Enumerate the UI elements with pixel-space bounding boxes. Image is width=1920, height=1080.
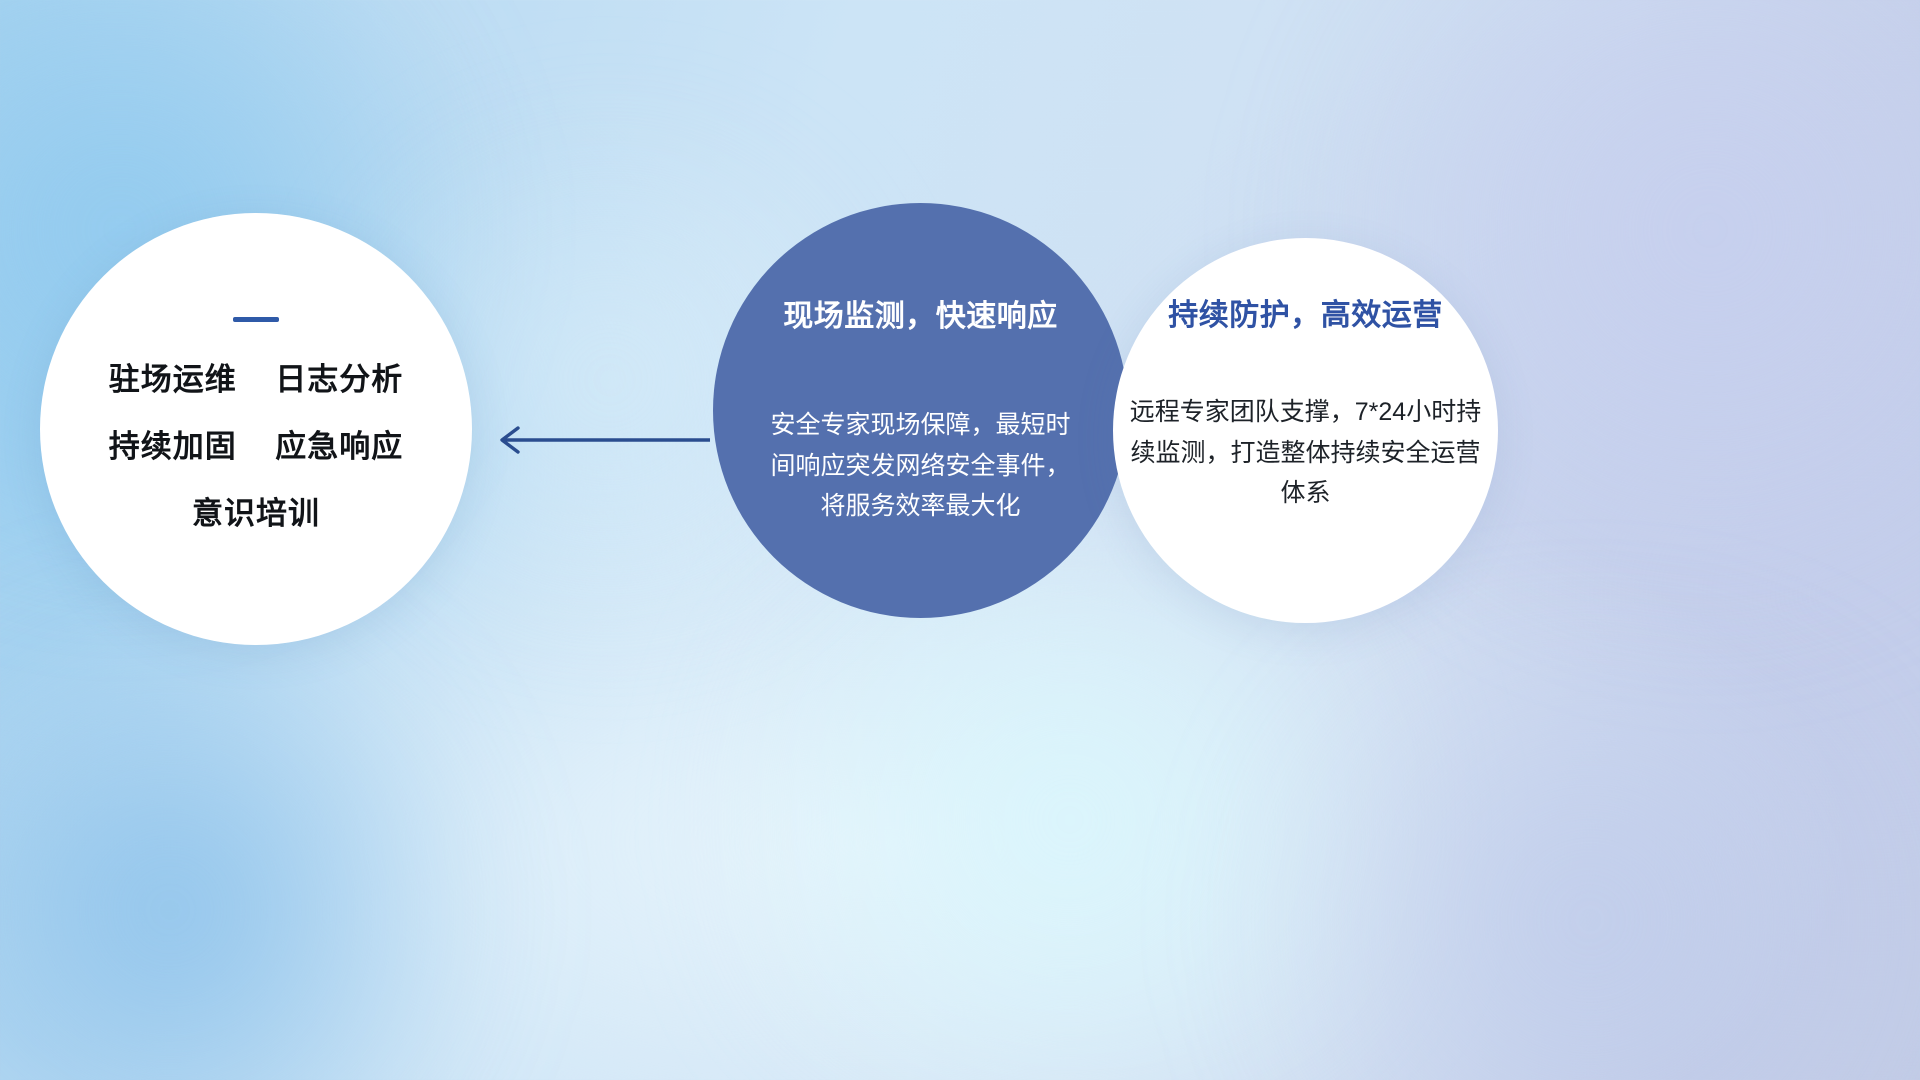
- service-circle-right-body: 远程专家团队支撑，7*24小时持续监测，打造整体持续安全运营体系: [1127, 392, 1485, 514]
- service-circle-right-title: 持续防护，高效运营: [1168, 290, 1443, 334]
- diagram-stage: 驻场运维 日志分析 持续加固 应急响应 意识培训 现场监测，快速响应 安全专家现…: [0, 0, 1920, 1080]
- capability-line-2: 持续加固 应急响应: [109, 431, 403, 462]
- service-circle-middle: 现场监测，快速响应 安全专家现场保障，最短时间响应突发网络安全事件，将服务效率最…: [713, 203, 1128, 618]
- capability-circle-left: 驻场运维 日志分析 持续加固 应急响应 意识培训: [40, 213, 472, 645]
- service-circle-middle-body: 安全专家现场保障，最短时间响应突发网络安全事件，将服务效率最大化: [771, 405, 1071, 527]
- flow-arrow-icon: [488, 422, 710, 458]
- service-circle-right: 持续防护，高效运营 远程专家团队支撑，7*24小时持续监测，打造整体持续安全运营…: [1113, 238, 1498, 623]
- divider-dash: [233, 317, 279, 322]
- capability-line-3: 意识培训: [192, 498, 320, 529]
- capability-line-1: 驻场运维 日志分析: [109, 364, 403, 395]
- service-circle-middle-title: 现场监测，快速响应: [783, 291, 1058, 335]
